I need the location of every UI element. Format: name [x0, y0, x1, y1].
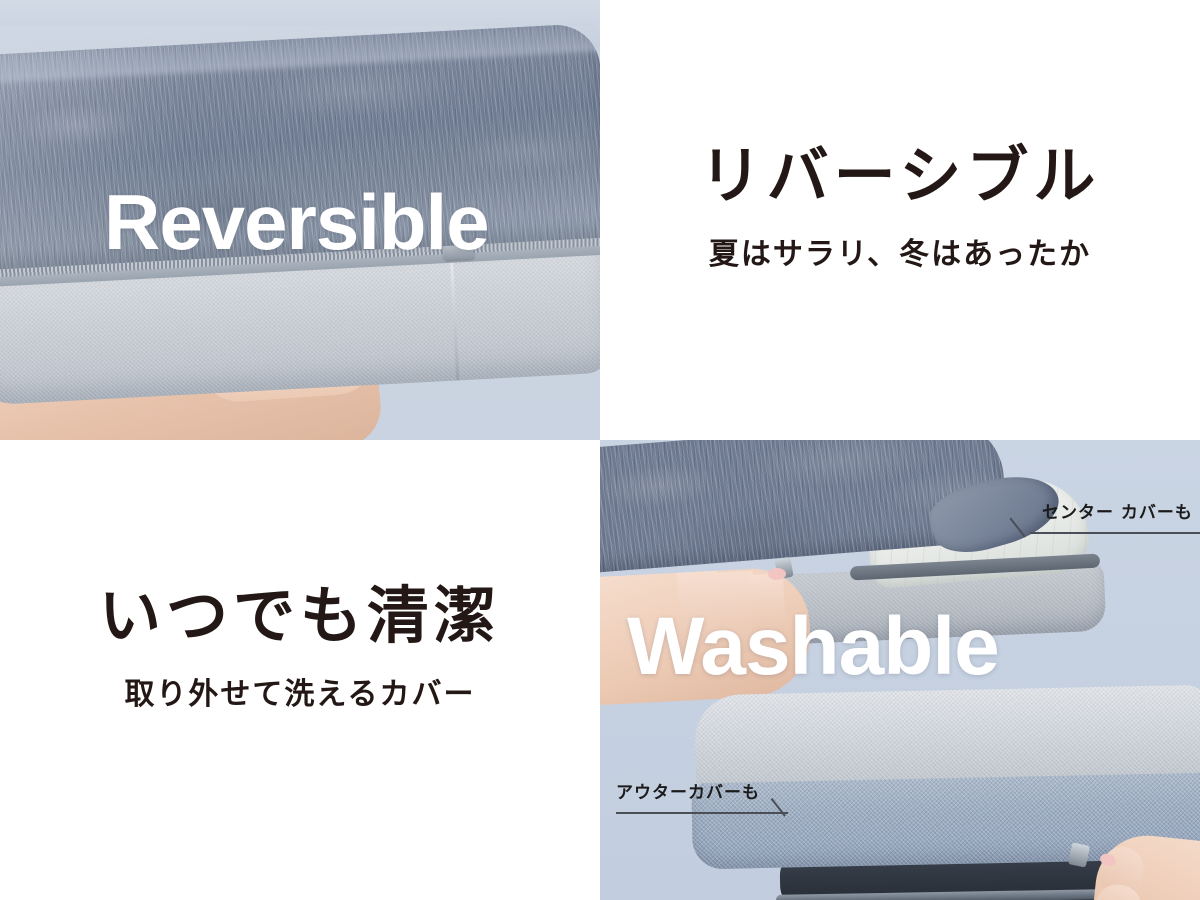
callout-leader-line [1030, 532, 1200, 534]
reversible-text-block: リバーシブル 夏はサラリ、冬はあったか [600, 0, 1200, 428]
reversible-headline: リバーシブル [700, 143, 1101, 208]
clean-subline: 取り外せて洗えるカバー [124, 669, 475, 713]
clean-headline: いつでも清潔 [99, 583, 501, 648]
finger [749, 573, 787, 645]
panel-top-right-text: リバーシブル 夏はサラリ、冬はあったか [600, 0, 1200, 440]
reversible-subline: 夏はサラリ、冬はあったか [709, 229, 1091, 273]
panel-top-left-photo: Reversible [0, 0, 600, 440]
clean-text-block: いつでも清潔 取り外せて洗えるカバー [0, 440, 600, 878]
callout-outer-cover-label: アウターカバーも [616, 778, 760, 803]
fingernail [768, 568, 786, 580]
callout-center-cover: センター カバーも [1016, 498, 1200, 546]
callout-leader-line [616, 812, 788, 814]
callout-center-cover-label: センター カバーも [1042, 498, 1193, 523]
hand-pulling-center-zipper [600, 566, 813, 706]
callout-outer-cover: アウターカバーも [616, 778, 816, 826]
panel-bottom-left-text: いつでも清潔 取り外せて洗えるカバー [0, 440, 600, 900]
cushion-gray-top-lower [694, 685, 1200, 784]
product-feature-collage: Reversible リバーシブル 夏はサラリ、冬はあったか いつでも清潔 取り… [0, 0, 1200, 900]
